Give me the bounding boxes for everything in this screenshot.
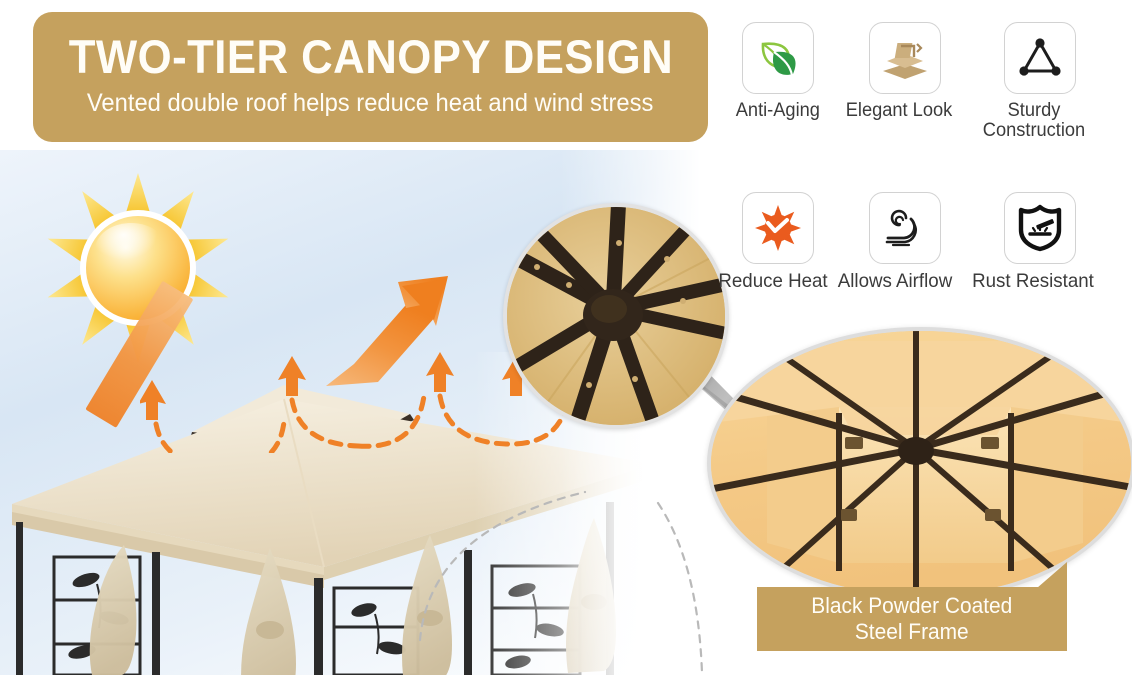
callout-text: Black Powder Coated Steel Frame	[812, 593, 1013, 645]
product-infographic: TWO-TIER CANOPY DESIGN Vented double roo…	[0, 0, 1132, 675]
feature-elegant-look[interactable]: Elegant Look	[850, 22, 960, 121]
heat-escape-arrow	[326, 276, 448, 386]
feature-anti-aging[interactable]: Anti-Aging	[723, 22, 833, 121]
feature-label: Rust Resistant	[965, 271, 1099, 292]
feature-label: Elegant Look	[833, 101, 964, 121]
callout-pointer	[1037, 562, 1067, 588]
feature-sturdy-construction[interactable]: Sturdy Construction	[985, 22, 1095, 141]
leaf-icon	[754, 34, 802, 82]
feature-icon-box	[1004, 22, 1076, 94]
triangle-icon	[1016, 34, 1064, 82]
feature-label: Allows Airflow	[823, 271, 967, 292]
feature-icon-box	[742, 22, 814, 94]
header-banner: TWO-TIER CANOPY DESIGN Vented double roo…	[33, 12, 708, 142]
canopy-hub-inset	[503, 203, 729, 429]
feature-icon-box	[742, 192, 814, 264]
feature-allows-airflow[interactable]: Allows Airflow	[850, 192, 960, 292]
interior-frame-inset	[707, 327, 1132, 600]
sun-heat-icon	[754, 204, 802, 252]
dashed-leader-lines	[390, 470, 750, 675]
feature-reduce-heat[interactable]: Reduce Heat	[723, 192, 833, 292]
feature-rust-resistant[interactable]: Rust Resistant	[985, 192, 1095, 292]
layers-icon	[881, 34, 929, 82]
feature-icon-box	[1004, 192, 1076, 264]
feature-icon-box	[869, 22, 941, 94]
vent-arrows	[140, 352, 530, 420]
callout-banner: Black Powder Coated Steel Frame	[757, 587, 1067, 651]
feature-label: Sturdy Construction	[968, 101, 1099, 141]
feature-icon-box	[869, 192, 941, 264]
feature-label: Anti-Aging	[736, 101, 820, 121]
page-title: TWO-TIER CANOPY DESIGN	[68, 33, 672, 82]
shield-icon	[1016, 204, 1064, 252]
wind-icon	[881, 204, 929, 252]
feature-label: Reduce Heat	[711, 271, 836, 292]
page-subtitle: Vented double roof helps reduce heat and…	[87, 89, 653, 118]
